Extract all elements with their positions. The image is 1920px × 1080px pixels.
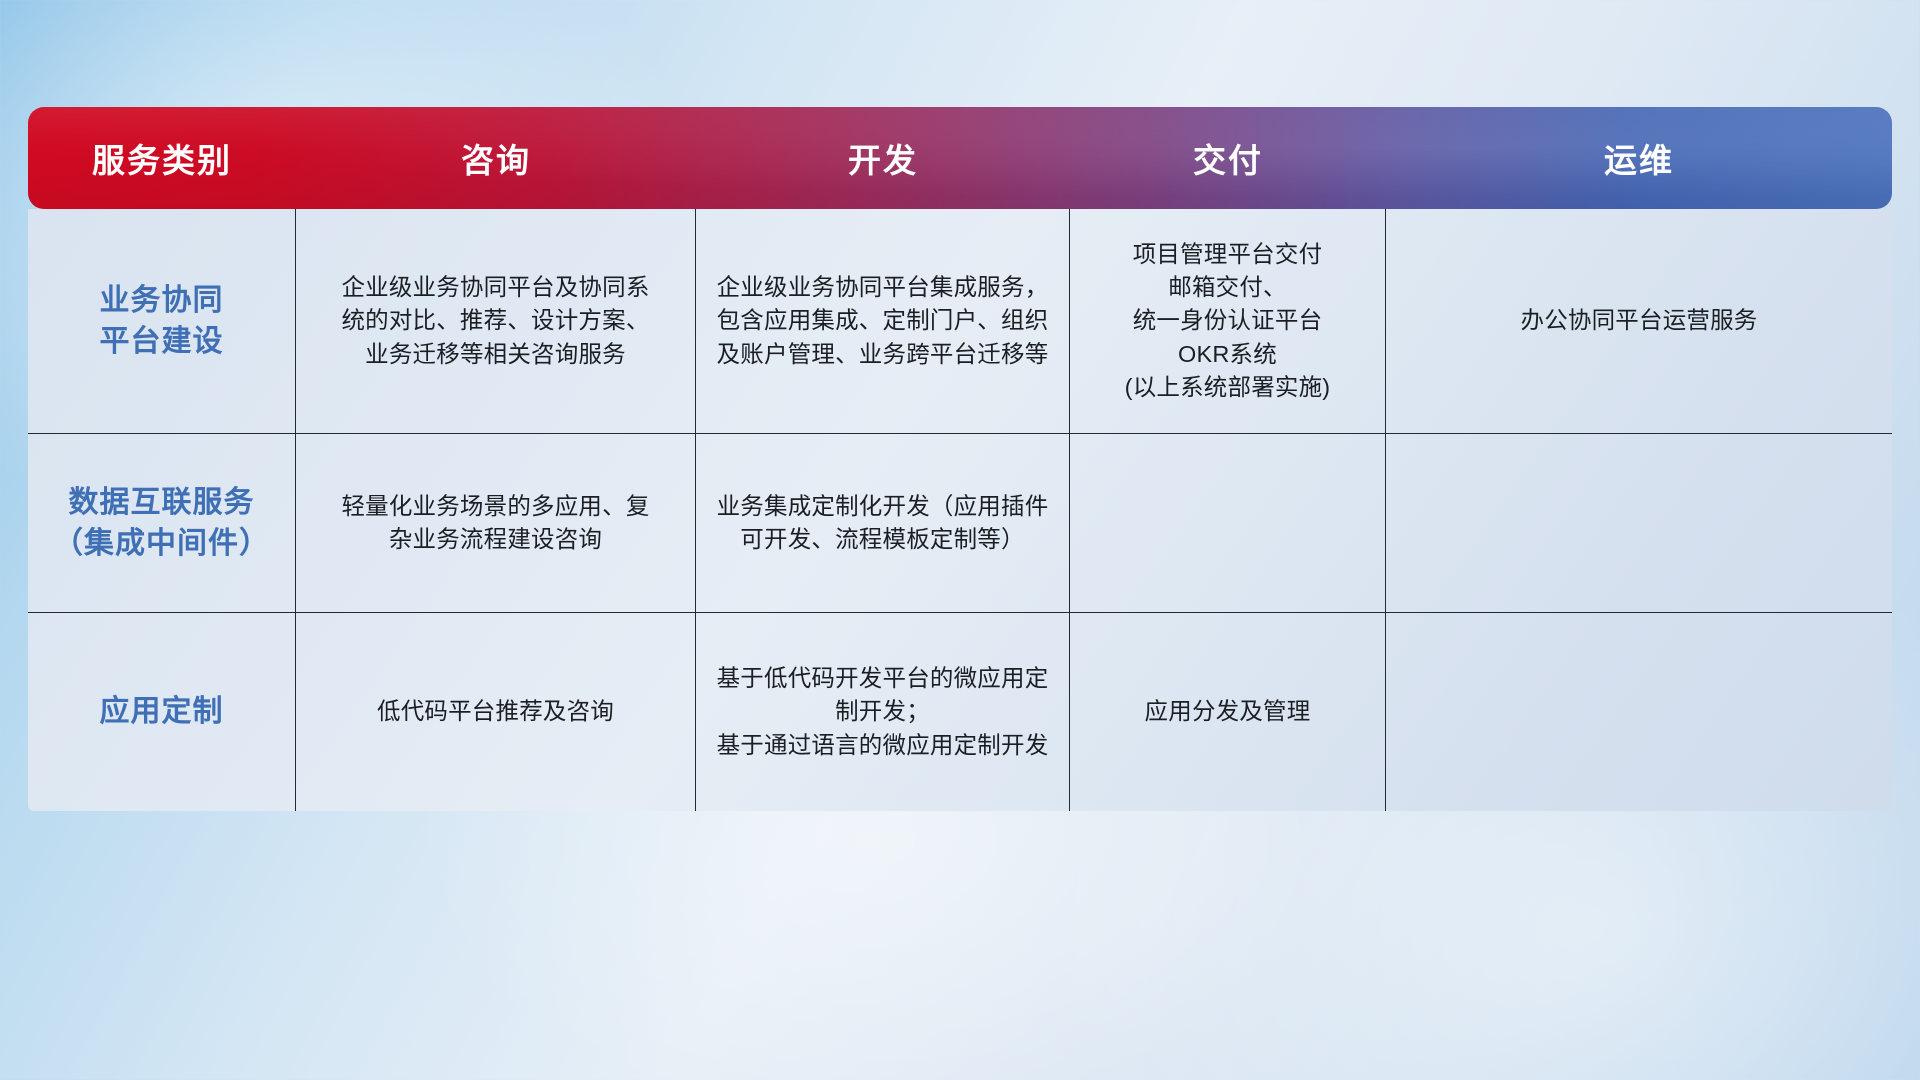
cell-text: 企业级业务协同平台及协同系 统的对比、推荐、设计方案、 业务迁移等相关咨询服务	[341, 271, 649, 371]
category-text: 应用定制	[100, 691, 224, 732]
cell-development: 基于低代码开发平台的微应用定 制开发； 基于通过语言的微应用定制开发	[696, 613, 1070, 811]
cell-consulting: 轻量化业务场景的多应用、复 杂业务流程建设咨询	[296, 434, 696, 612]
cell-operations	[1386, 613, 1892, 811]
category-text: 业务协同 平台建设	[100, 280, 224, 363]
row-category-label: 业务协同 平台建设	[28, 209, 296, 433]
table-header-delivery: 交付	[1070, 134, 1386, 182]
cell-text: 轻量化业务场景的多应用、复 杂业务流程建设咨询	[341, 490, 649, 557]
table-header-development: 开发	[696, 134, 1070, 182]
cell-text: 项目管理平台交付 邮箱交付、 统一身份认证平台 OKR系统 (以上系统部署实施)	[1125, 238, 1331, 405]
table-header-category: 服务类别	[28, 134, 296, 182]
table-row: 业务协同 平台建设 企业级业务协同平台及协同系 统的对比、推荐、设计方案、 业务…	[28, 209, 1892, 434]
cell-text: 应用分发及管理	[1145, 695, 1311, 728]
cell-text: 低代码平台推荐及咨询	[377, 695, 614, 728]
table-body: 业务协同 平台建设 企业级业务协同平台及协同系 统的对比、推荐、设计方案、 业务…	[28, 209, 1892, 811]
cell-text: 企业级业务协同平台集成服务， 包含应用集成、定制门户、组织 及账户管理、业务跨平…	[717, 271, 1049, 371]
row-category-label: 应用定制	[28, 613, 296, 811]
cell-text: 办公协同平台运营服务	[1521, 304, 1758, 337]
cell-text: 业务集成定制化开发（应用插件 可开发、流程模板定制等）	[717, 490, 1049, 557]
cell-development: 业务集成定制化开发（应用插件 可开发、流程模板定制等）	[696, 434, 1070, 612]
category-text: 数据互联服务 （集成中间件）	[53, 482, 270, 565]
cell-delivery	[1070, 434, 1386, 612]
table-header-row: 服务类别 咨询 开发 交付 运维	[28, 107, 1892, 209]
table-row: 数据互联服务 （集成中间件） 轻量化业务场景的多应用、复 杂业务流程建设咨询 业…	[28, 434, 1892, 613]
table-row: 应用定制 低代码平台推荐及咨询 基于低代码开发平台的微应用定 制开发； 基于通过…	[28, 613, 1892, 811]
cell-consulting: 企业级业务协同平台及协同系 统的对比、推荐、设计方案、 业务迁移等相关咨询服务	[296, 209, 696, 433]
cell-development: 企业级业务协同平台集成服务， 包含应用集成、定制门户、组织 及账户管理、业务跨平…	[696, 209, 1070, 433]
row-category-label: 数据互联服务 （集成中间件）	[28, 434, 296, 612]
cell-consulting: 低代码平台推荐及咨询	[296, 613, 696, 811]
table-header-consulting: 咨询	[296, 134, 696, 182]
cell-delivery: 项目管理平台交付 邮箱交付、 统一身份认证平台 OKR系统 (以上系统部署实施)	[1070, 209, 1386, 433]
table-header-operations: 运维	[1386, 134, 1892, 182]
cell-operations	[1386, 434, 1892, 612]
cell-delivery: 应用分发及管理	[1070, 613, 1386, 811]
cell-operations: 办公协同平台运营服务	[1386, 209, 1892, 433]
cell-text: 基于低代码开发平台的微应用定 制开发； 基于通过语言的微应用定制开发	[717, 662, 1049, 762]
service-matrix-table: 服务类别 咨询 开发 交付 运维 业务协同 平台建设 企业级业务协同平台及协同系…	[28, 107, 1892, 811]
